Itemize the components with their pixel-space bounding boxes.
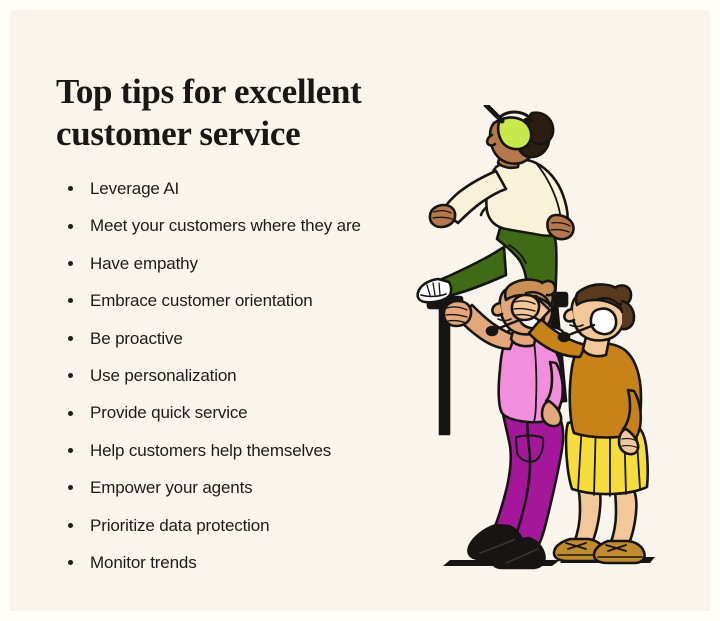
bullet-icon bbox=[68, 298, 73, 303]
list-item: Monitor trends bbox=[56, 544, 446, 581]
bullet-icon bbox=[68, 411, 73, 416]
list-item: Leverage AI bbox=[56, 170, 446, 207]
list-item: Have empathy bbox=[56, 245, 446, 282]
page-title-line-1: Top tips for excellent bbox=[56, 71, 436, 113]
list-item-label: Help customers help themselves bbox=[90, 441, 331, 460]
list-item-label: Meet your customers where they are bbox=[90, 216, 361, 235]
list-item-label: Leverage AI bbox=[90, 179, 179, 198]
bullet-icon bbox=[68, 336, 73, 341]
bullet-icon bbox=[68, 224, 73, 229]
list-item: Use personalization bbox=[56, 357, 446, 394]
list-item: Provide quick service bbox=[56, 394, 446, 431]
list-item: Prioritize data protection bbox=[56, 507, 446, 544]
bullet-icon bbox=[68, 560, 73, 565]
tips-card: Top tips for excellent customer service … bbox=[10, 10, 710, 611]
list-item-label: Have empathy bbox=[90, 254, 198, 273]
list-item-label: Prioritize data protection bbox=[90, 516, 269, 535]
card-content: Top tips for excellent customer service … bbox=[10, 10, 710, 611]
bullet-icon bbox=[68, 373, 73, 378]
list-item: Help customers help themselves bbox=[56, 432, 446, 469]
list-item: Embrace customer orientation bbox=[56, 282, 446, 319]
tips-list: Leverage AI Meet your customers where th… bbox=[56, 170, 446, 581]
bullet-icon bbox=[68, 485, 73, 490]
list-item-label: Monitor trends bbox=[90, 553, 197, 572]
list-item-label: Provide quick service bbox=[90, 403, 247, 422]
list-item-label: Embrace customer orientation bbox=[90, 291, 313, 310]
bullet-icon bbox=[68, 261, 73, 266]
bullet-icon bbox=[68, 448, 73, 453]
page-title: Top tips for excellent customer service bbox=[56, 71, 436, 155]
list-item: Empower your agents bbox=[56, 469, 446, 506]
list-item-label: Use personalization bbox=[90, 366, 236, 385]
list-item-label: Be proactive bbox=[90, 329, 183, 348]
list-item: Be proactive bbox=[56, 320, 446, 357]
page-title-line-2: customer service bbox=[56, 113, 436, 155]
list-item-label: Empower your agents bbox=[90, 478, 253, 497]
list-item: Meet your customers where they are bbox=[56, 207, 446, 244]
bullet-icon bbox=[68, 523, 73, 528]
three-support-agents-on-stilts-illustration bbox=[410, 105, 710, 605]
bullet-icon bbox=[68, 186, 73, 191]
